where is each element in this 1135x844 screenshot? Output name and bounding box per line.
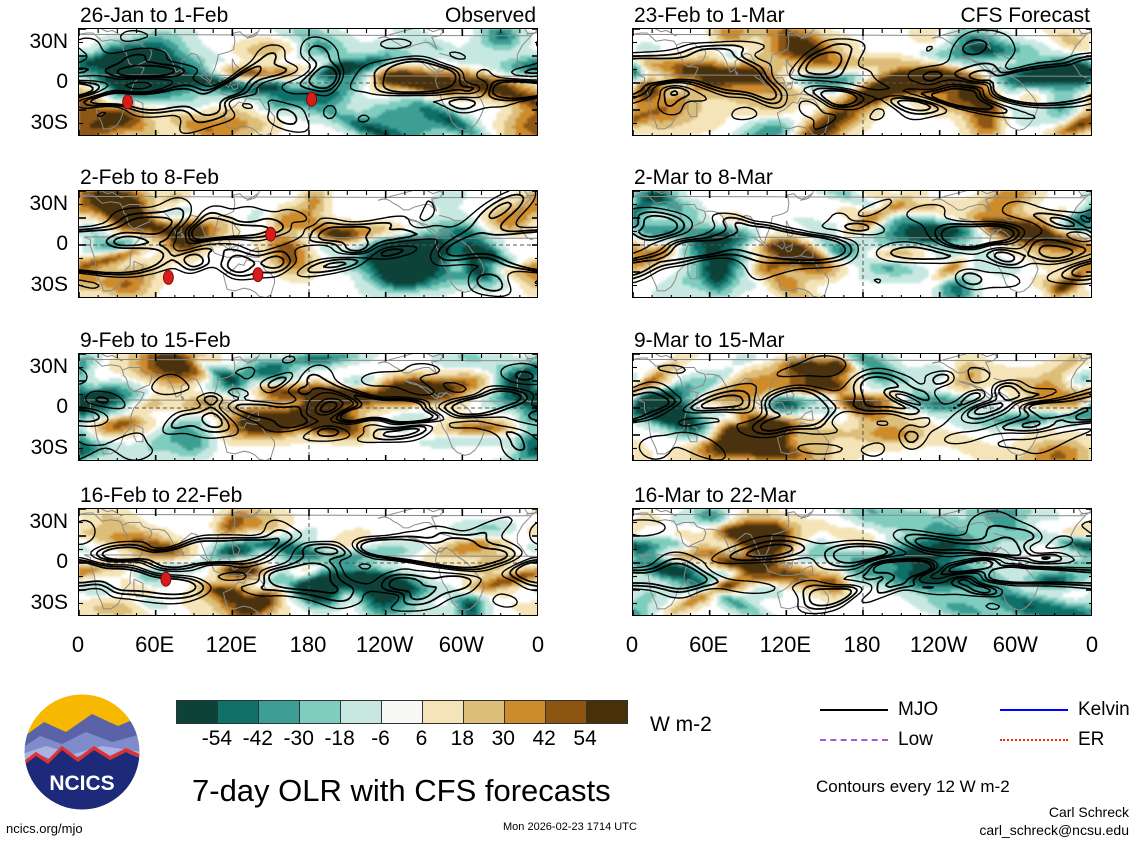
map-canvas [79, 354, 538, 461]
y-axis-label: 30N [0, 511, 68, 532]
panel-title: 2-Feb to 8-Feb [80, 167, 219, 188]
legend-line-er [1000, 739, 1068, 741]
ncics-logo-svg: NCICS [22, 692, 142, 812]
colorbar-tick-label: 54 [555, 728, 615, 749]
panel-title: 16-Mar to 22-Mar [634, 485, 796, 506]
panel-title: 9-Feb to 15-Feb [80, 330, 231, 351]
legend-line-low [820, 739, 888, 741]
y-axis-label: 0 [0, 71, 68, 92]
y-axis-label: 30S [0, 274, 68, 295]
colorbar-swatch [422, 701, 463, 723]
map-canvas [633, 191, 1092, 298]
y-axis-label: 30S [0, 437, 68, 458]
colorbar-swatch [504, 701, 545, 723]
colorbar-swatch [463, 701, 504, 723]
er-wave-marker [161, 572, 171, 586]
colorbar-swatch [258, 701, 299, 723]
panel-corner-label: CFS Forecast [960, 5, 1090, 26]
y-axis-label: 30N [0, 356, 68, 377]
map-plot-area [632, 28, 1092, 136]
map-plot-area [78, 190, 538, 298]
map-canvas [633, 509, 1092, 616]
colorbar-swatch [299, 701, 340, 723]
map-plot-area [78, 353, 538, 461]
x-axis-label: 0 [493, 634, 583, 656]
legend-label: Low [898, 730, 933, 749]
map-canvas [633, 354, 1092, 461]
y-axis-label: 0 [0, 551, 68, 572]
er-wave-marker [307, 92, 317, 106]
map-canvas [79, 509, 538, 616]
map-plot-area [632, 353, 1092, 461]
contour-note: Contours every 12 W m-2 [816, 778, 1010, 795]
map-plot-area [632, 508, 1092, 616]
map-plot-area [78, 508, 538, 616]
colorbar-swatch [177, 701, 217, 723]
map-canvas [79, 191, 538, 298]
er-wave-marker [266, 227, 276, 241]
panel-title: 2-Mar to 8-Mar [634, 167, 773, 188]
y-axis-label: 30S [0, 592, 68, 613]
colorbar-swatch [340, 701, 381, 723]
logo-label: NCICS [49, 772, 114, 795]
figure-root: 26-Jan to 1-FebObserved2-Feb to 8-Feb9-F… [0, 0, 1135, 844]
legend-label: Kelvin x2 [1078, 700, 1135, 719]
x-axis-label: 0 [1047, 634, 1135, 656]
author-name: Carl Schreck [895, 805, 1129, 819]
map-plot-area [632, 190, 1092, 298]
timestamp: Mon 2026-02-23 1714 UTC [503, 822, 637, 833]
er-wave-marker [163, 270, 173, 284]
ncics-logo: NCICS [22, 692, 142, 812]
y-axis-label: 30N [0, 31, 68, 52]
panel-title: 26-Jan to 1-Feb [80, 5, 228, 26]
er-wave-marker [253, 268, 263, 282]
y-axis-label: 0 [0, 396, 68, 417]
map-canvas [633, 29, 1092, 136]
panel-title: 9-Mar to 15-Mar [634, 330, 785, 351]
colorbar-swatch [586, 701, 627, 723]
colorbar-swatch [217, 701, 258, 723]
panel-corner-label: Observed [445, 5, 536, 26]
y-axis-label: 30N [0, 193, 68, 214]
y-axis-label: 30S [0, 112, 68, 133]
figure-title: 7-day OLR with CFS forecasts [192, 775, 611, 806]
colorbar-swatch [381, 701, 422, 723]
legend-label: MJO [898, 700, 938, 719]
map-plot-area [78, 28, 538, 136]
colorbar-unit-label: W m-2 [650, 714, 712, 735]
colorbar [176, 700, 628, 724]
colorbar-swatch [545, 701, 586, 723]
site-link[interactable]: ncics.org/mjo [6, 822, 83, 835]
er-wave-marker [123, 95, 133, 109]
map-canvas [79, 29, 538, 136]
y-axis-label: 0 [0, 233, 68, 254]
legend-line-mjo [820, 709, 888, 711]
panel-title: 16-Feb to 22-Feb [80, 485, 242, 506]
legend-label: ER [1078, 730, 1104, 749]
author-email[interactable]: carl_schreck@ncsu.edu [895, 823, 1129, 837]
legend-line-kelvin-x2 [1000, 709, 1068, 711]
panel-title: 23-Feb to 1-Mar [634, 5, 785, 26]
